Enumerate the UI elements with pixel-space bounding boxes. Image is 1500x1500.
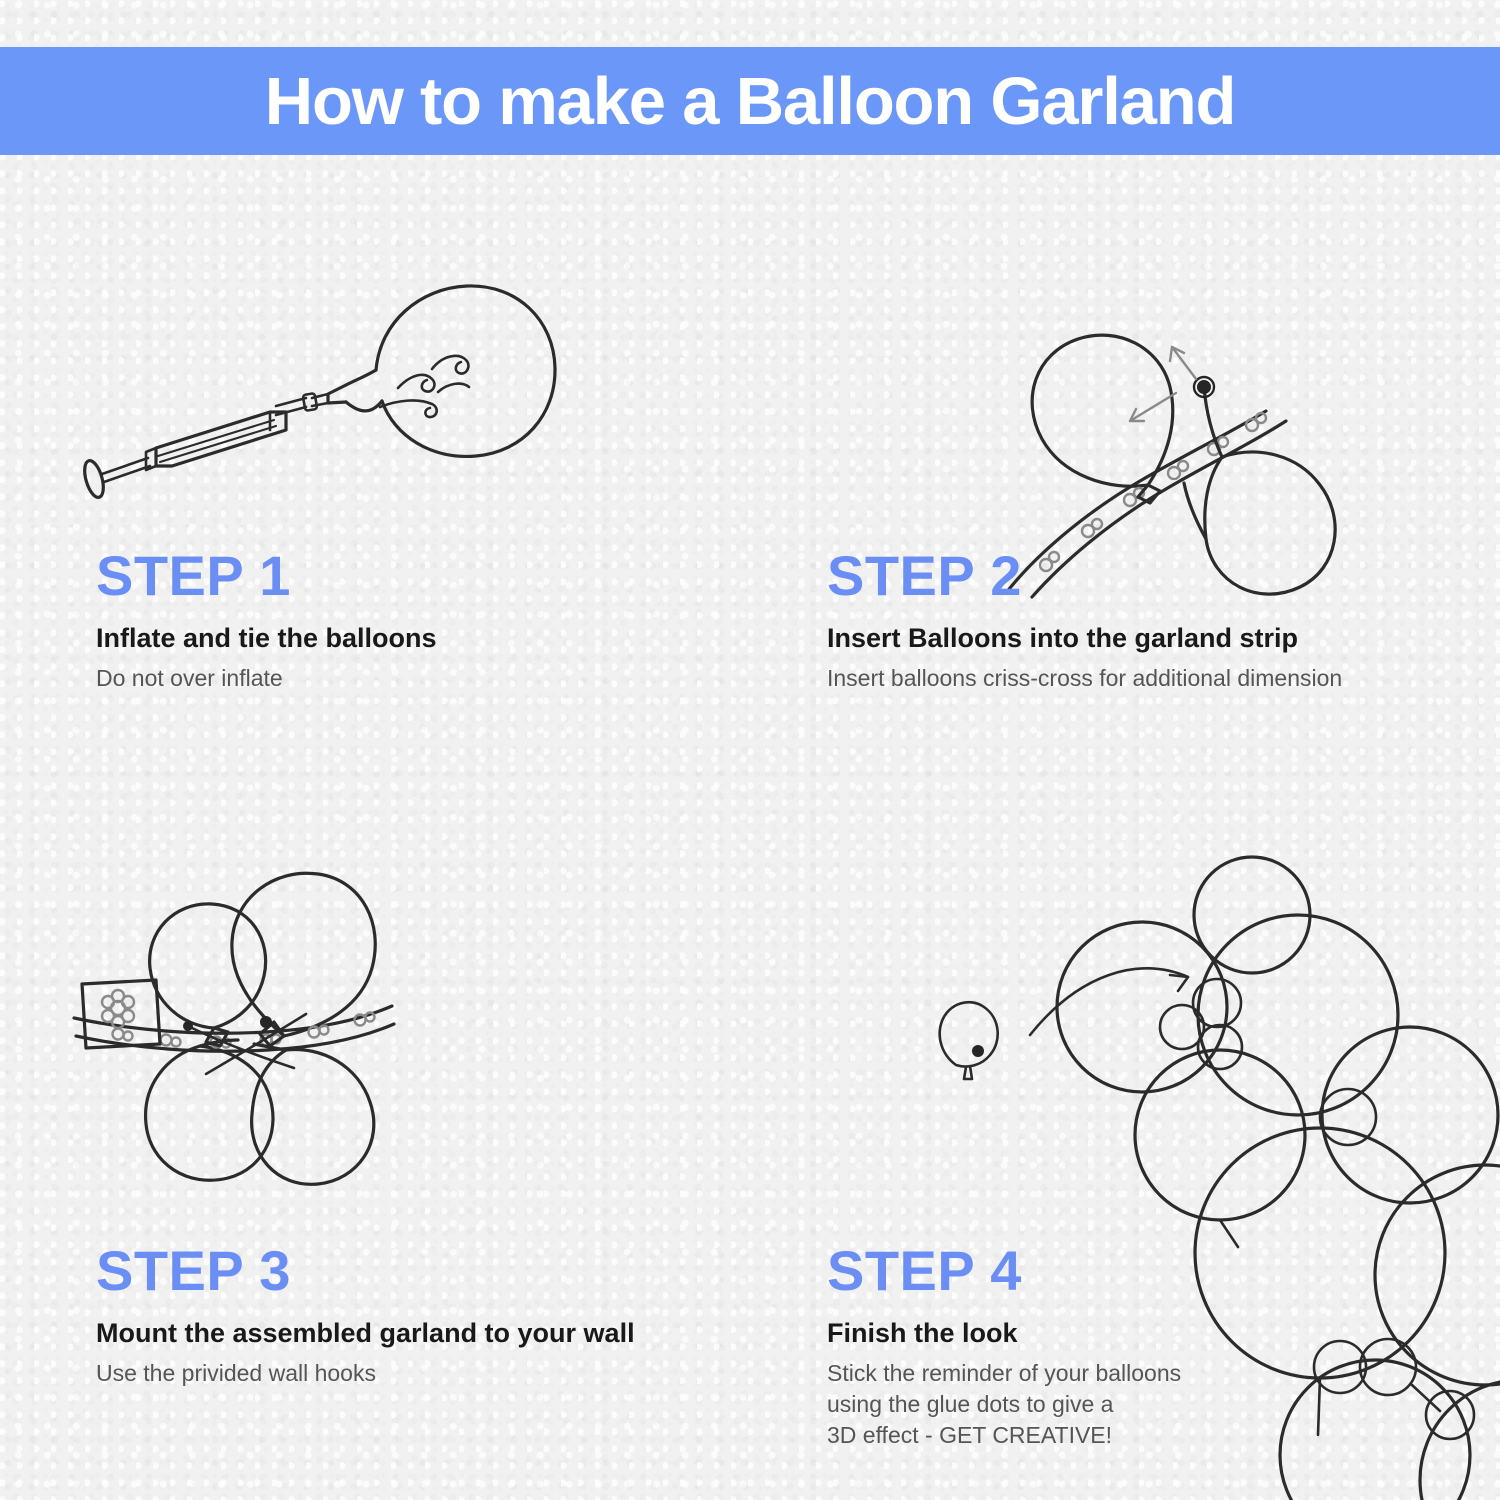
step-4-number: STEP 4: [827, 1243, 1181, 1299]
infographic-page: How to make a Balloon Garland: [0, 0, 1500, 1500]
wall-hook-rosette: [102, 990, 134, 1028]
insert-direction-arrows: [1130, 347, 1196, 421]
step-1-illustration: [80, 270, 580, 515]
step-1-text-block: STEP 1 Inflate and tie the balloons Do n…: [96, 548, 437, 694]
placement-arrow-icon: [1030, 968, 1188, 1035]
single-balloon-with-glue-dot: [940, 1002, 998, 1079]
step-4-headline: Finish the look: [827, 1317, 1181, 1349]
step-3-text-block: STEP 3 Mount the assembled garland to yo…: [96, 1243, 635, 1389]
step-1-headline: Inflate and tie the balloons: [96, 622, 437, 654]
mounted-balloon-cluster-icon: [70, 850, 430, 1210]
step-4-text-block: STEP 4 Finish the look Stick the reminde…: [827, 1243, 1181, 1452]
step-2-headline: Insert Balloons into the garland strip: [827, 622, 1342, 654]
step-3-illustration: [70, 850, 430, 1215]
step-2-text-block: STEP 2 Insert Balloons into the garland …: [827, 548, 1342, 694]
step-2-caption: Insert balloons criss-cross for addition…: [827, 663, 1342, 694]
step-3-number: STEP 3: [96, 1243, 635, 1299]
step-1-caption: Do not over inflate: [96, 663, 437, 694]
page-title: How to make a Balloon Garland: [265, 68, 1235, 135]
step-3-headline: Mount the assembled garland to your wall: [96, 1317, 635, 1349]
header-band: How to make a Balloon Garland: [0, 47, 1500, 155]
step-2-number: STEP 2: [827, 548, 1342, 604]
balloon-pump-icon: [80, 270, 580, 510]
step-4-caption: Stick the reminder of your balloons usin…: [827, 1358, 1181, 1451]
step-1-number: STEP 1: [96, 548, 437, 604]
step-3-caption: Use the privided wall hooks: [96, 1358, 635, 1389]
